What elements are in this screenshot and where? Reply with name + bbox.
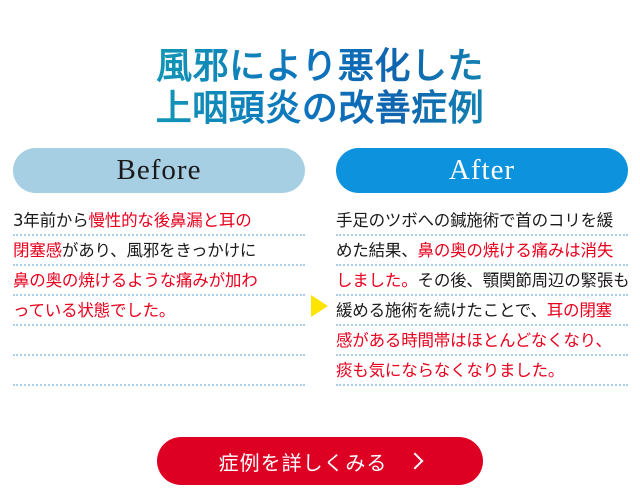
- chevron-right-icon: [407, 453, 424, 470]
- highlight-text: 鼻の奥の焼けるような痛みが加わ: [13, 271, 258, 290]
- body-line: 閉塞感があり、風邪をきっかけに: [13, 236, 305, 266]
- body-line: めた結果、鼻の奥の焼ける痛みは消失: [336, 236, 628, 266]
- body-line: [13, 356, 305, 386]
- highlight-text: っている状態でした。: [13, 301, 175, 320]
- after-heading-label: After: [449, 154, 515, 187]
- body-text-run: 緩める施術を続けたことで、: [336, 301, 547, 320]
- body-line: 痰も気にならなくなりました。: [336, 356, 628, 386]
- before-column: Before 3年前から慢性的な後鼻漏と耳の閉塞感があり、風邪をきっかけに鼻の奥…: [13, 148, 305, 386]
- case-study-card: 風邪により悪化した 上咽頭炎の改善症例 Before 3年前から慢性的な後鼻漏と…: [0, 0, 640, 495]
- body-line: 感がある時間帯はほとんどなくなり、: [336, 326, 628, 356]
- highlight-text: 鼻の奥の焼ける痛みは消失: [418, 241, 614, 260]
- highlight-text: 閉塞感: [13, 241, 62, 260]
- page-title: 風邪により悪化した 上咽頭炎の改善症例: [0, 46, 640, 130]
- body-text-run: があり、風邪をきっかけに: [62, 241, 256, 260]
- highlight-text: 耳の閉塞: [547, 301, 612, 320]
- highlight-text: 感がある時間帯はほとんどなくなり、: [336, 331, 612, 350]
- before-body-text: 3年前から慢性的な後鼻漏と耳の閉塞感があり、風邪をきっかけに鼻の奥の焼けるような…: [13, 206, 305, 386]
- page-title-line-2: 上咽頭炎の改善症例: [0, 88, 640, 130]
- after-heading-pill: After: [336, 148, 628, 193]
- highlight-text: 痰も気にならなくなりました。: [336, 361, 564, 380]
- view-case-details-button[interactable]: 症例を詳しくみる: [157, 437, 483, 485]
- body-text-run: めた結果、: [336, 241, 418, 260]
- before-heading-pill: Before: [13, 148, 305, 193]
- body-line: 3年前から慢性的な後鼻漏と耳の: [13, 206, 305, 236]
- before-heading-label: Before: [117, 154, 202, 187]
- before-after-columns: Before 3年前から慢性的な後鼻漏と耳の閉塞感があり、風邪をきっかけに鼻の奥…: [0, 148, 640, 423]
- body-line: っている状態でした。: [13, 296, 305, 326]
- after-column: After 手足のツボへの鍼施術で首のコリを緩めた結果、鼻の奥の焼ける痛みは消失…: [336, 148, 628, 386]
- view-case-details-label: 症例を詳しくみる: [219, 447, 388, 476]
- body-line: [13, 326, 305, 356]
- highlight-text: しました。: [336, 271, 418, 290]
- body-line: 鼻の奥の焼けるような痛みが加わ: [13, 266, 305, 296]
- play-arrow-icon: [311, 295, 328, 317]
- page-title-line-1: 風邪により悪化した: [0, 46, 640, 88]
- body-line: 手足のツボへの鍼施術で首のコリを緩: [336, 206, 628, 236]
- body-text-run: 手足のツボへの鍼施術で首のコリを緩: [336, 211, 613, 230]
- body-text-run: 3年前から: [13, 211, 89, 230]
- highlight-text: 慢性的な後鼻漏と耳の: [89, 211, 252, 230]
- body-text-run: その後、顎関節周辺の緊張も: [418, 271, 630, 290]
- after-body-text: 手足のツボへの鍼施術で首のコリを緩めた結果、鼻の奥の焼ける痛みは消失しました。そ…: [336, 206, 628, 386]
- body-line: 緩める施術を続けたことで、耳の閉塞: [336, 296, 628, 326]
- body-line: しました。その後、顎関節周辺の緊張も: [336, 266, 628, 296]
